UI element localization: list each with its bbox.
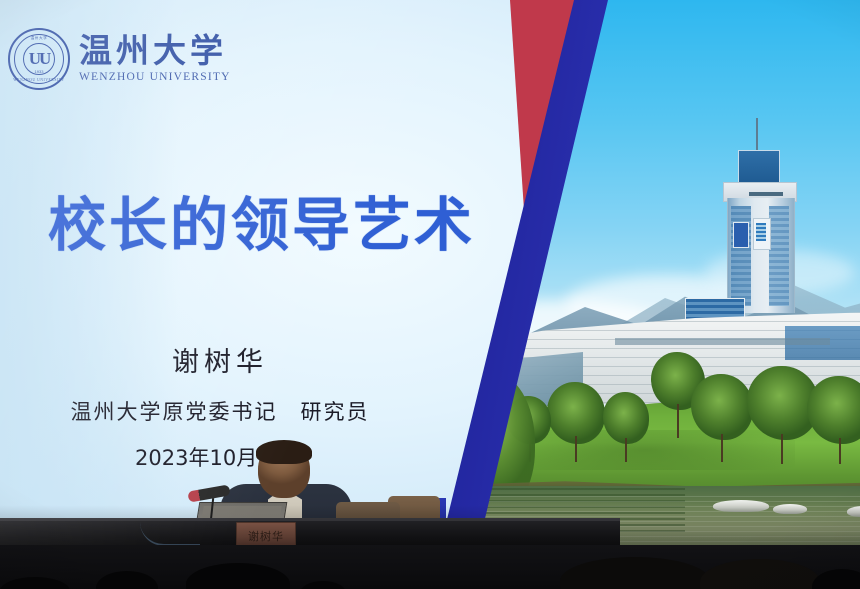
audience-head	[186, 563, 290, 589]
tower-glass-left	[731, 206, 751, 306]
tree-trunk	[575, 436, 577, 462]
university-seal-icon: 温州大学 UU 1933 WENZHOU UNIVERSITY	[8, 28, 70, 90]
presentation-photo: 温州大学 UU 1933 WENZHOU UNIVERSITY 温州大学 WEN…	[0, 0, 860, 589]
speaker-table	[0, 520, 620, 548]
tower-band	[749, 192, 783, 196]
tree-trunk	[721, 434, 723, 462]
presenter-name: 谢树华	[0, 340, 440, 379]
audience-head	[700, 559, 820, 589]
seal-year: 1933	[10, 69, 68, 74]
audience-head	[96, 571, 158, 589]
audience-foreground	[0, 545, 860, 589]
seal-arc-top-text: 温州大学	[10, 36, 68, 41]
audience-head	[300, 581, 346, 589]
tree	[547, 382, 605, 444]
seal-arc-bottom-text: WENZHOU UNIVERSITY	[10, 78, 68, 82]
tree	[603, 392, 649, 444]
tower-blue-panel	[733, 222, 749, 248]
projection-screen: 温州大学 UU 1933 WENZHOU UNIVERSITY 温州大学 WEN…	[0, 0, 860, 548]
audience-head	[560, 557, 710, 589]
nameplate-text: 谢树华	[248, 528, 284, 544]
building-shadow-band	[615, 338, 830, 345]
table-edge	[0, 518, 620, 521]
tower-clock-detail	[756, 223, 766, 241]
speaker-hair	[256, 440, 312, 464]
tower-antenna-icon	[756, 118, 758, 150]
pond-rock	[713, 500, 769, 512]
university-logo: 温州大学 UU 1933 WENZHOU UNIVERSITY 温州大学 WEN…	[8, 28, 231, 90]
tree-trunk	[677, 404, 679, 438]
tree-trunk	[781, 434, 783, 464]
audience-head	[0, 577, 70, 589]
tower-glass-right	[769, 206, 789, 306]
wordmark: 温州大学 WENZHOU UNIVERSITY	[79, 35, 231, 83]
wordmark-english: WENZHOU UNIVERSITY	[79, 71, 231, 83]
tree	[691, 374, 753, 440]
tree-trunk	[625, 438, 627, 462]
wordmark-chinese: 温州大学	[79, 35, 231, 70]
slide-title: 校长的领导艺术	[48, 178, 475, 262]
presenter-affiliation: 温州大学原党委书记 研究员	[0, 396, 440, 426]
tree-trunk	[839, 438, 841, 464]
audience-head	[812, 569, 860, 589]
pond-rock	[773, 504, 807, 514]
tower-top	[738, 150, 780, 184]
